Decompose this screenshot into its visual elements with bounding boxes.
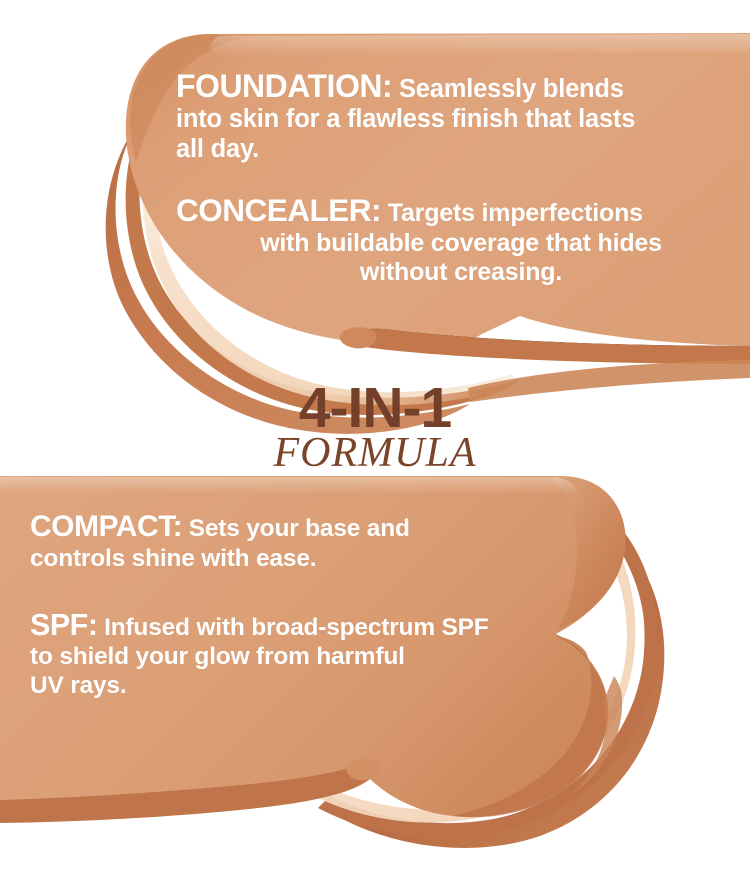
benefit-foundation: FOUNDATION: Seamlessly blends into skin … — [176, 68, 736, 164]
benefit-concealer: CONCEALER: Targets imperfections with bu… — [176, 192, 746, 287]
foundation-text-1: Seamlessly blends — [399, 75, 624, 103]
product-benefits-graphic: FOUNDATION: Seamlessly blends into skin … — [0, 0, 750, 880]
compact-text-1: Sets your base and — [189, 515, 410, 542]
spf-lead: SPF: — [30, 608, 97, 642]
concealer-text-1: Targets imperfections — [388, 199, 643, 227]
spf-text-1: Infused with broad-spectrum SPF — [104, 614, 488, 641]
concealer-lead: CONCEALER: — [176, 192, 381, 228]
benefit-compact: COMPACT: Sets your base and controls shi… — [30, 510, 550, 573]
concealer-text-2: with buildable coverage that hides — [176, 229, 746, 258]
concealer-text-3: without creasing. — [176, 258, 746, 287]
spf-text-3: UV rays. — [30, 672, 590, 700]
foundation-text-3: all day. — [176, 135, 736, 165]
spf-text-2: to shield your glow from harmful — [30, 643, 590, 671]
compact-line-1: COMPACT: Sets your base and — [30, 510, 550, 545]
foundation-text-2: into skin for a flawless finish that las… — [176, 105, 736, 135]
compact-text-2: controls shine with ease. — [30, 545, 550, 573]
compact-lead: COMPACT: — [30, 510, 182, 543]
benefit-spf: SPF: Infused with broad-spectrum SPF to … — [30, 608, 590, 700]
foundation-lead: FOUNDATION: — [176, 68, 392, 104]
top-smear-tail — [468, 360, 750, 402]
top-smear-drip-nub — [340, 327, 376, 348]
bottom-smear-sheen — [0, 477, 578, 494]
foundation-line-1: FOUNDATION: Seamlessly blends — [176, 68, 736, 105]
spf-line-1: SPF: Infused with broad-spectrum SPF — [30, 608, 590, 643]
concealer-line-1: CONCEALER: Targets imperfections — [176, 192, 746, 229]
